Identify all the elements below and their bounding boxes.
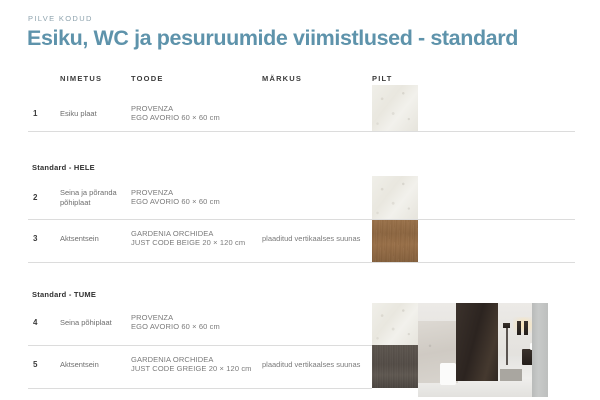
row-name: Esiku plaat [60, 109, 130, 119]
row-note: plaaditud vertikaalses suunas [262, 234, 377, 244]
row-note: plaaditud vertikaalses suunas [262, 360, 377, 370]
table-row: 5 Aktsentsein GARDENIA ORCHIDEA JUST COD… [0, 352, 600, 378]
page-title: Esiku, WC ja pesuruumide viimistlused - … [27, 26, 518, 51]
row-name: Seina põhiplaat [60, 318, 130, 328]
column-header-toode: TOODE [131, 74, 164, 83]
swatch-cream-stone-tile [372, 85, 418, 131]
column-header-markus: MÄRKUS [262, 74, 302, 83]
table-row: 3 Aktsentsein GARDENIA ORCHIDEA JUST COD… [0, 226, 600, 252]
row-name: Aktsentsein [60, 234, 130, 244]
column-header-nimetus: NIMETUS [60, 74, 102, 83]
row-name: Seina ja põranda põhiplaat [60, 188, 130, 208]
group-label-hele: Standard - HELE [32, 163, 95, 172]
row-product-spec: JUST CODE BEIGE 20 × 120 cm [131, 238, 261, 248]
row-divider [28, 131, 575, 132]
table-row: 2 Seina ja põranda põhiplaat PROVENZA EG… [0, 185, 600, 211]
row-product-spec: EGO AVORIO 60 × 60 cm [131, 197, 261, 207]
row-number: 5 [33, 360, 37, 369]
column-header-pilt: PILT [372, 74, 393, 83]
table-header-row: NIMETUS TOODE MÄRKUS PILT [0, 74, 600, 88]
row-divider [28, 345, 372, 346]
swatch-dark-greige-tile [372, 345, 418, 388]
document-page: PILVE KODUD Esiku, WC ja pesuruumide vii… [0, 0, 600, 400]
swatch-warm-wood-tile [372, 220, 418, 262]
row-number: 4 [33, 318, 37, 327]
row-product-spec: EGO AVORIO 60 × 60 cm [131, 113, 261, 123]
row-divider [28, 219, 575, 220]
row-product-spec: EGO AVORIO 60 × 60 cm [131, 322, 261, 332]
group-label-tume: Standard - TUME [32, 290, 96, 299]
swatch-cream-stone-tile [372, 303, 418, 345]
row-name: Aktsentsein [60, 360, 130, 370]
table-row: 4 Seina põhiplaat PROVENZA EGO AVORIO 60… [0, 310, 600, 336]
row-number: 3 [33, 234, 37, 243]
table-row: 1 Esiku plaat PROVENZA EGO AVORIO 60 × 6… [0, 103, 600, 125]
row-product-spec: JUST CODE GREIGE 20 × 120 cm [131, 364, 261, 374]
row-divider [28, 262, 575, 263]
row-number: 2 [33, 193, 37, 202]
row-number: 1 [33, 109, 37, 118]
brand-eyebrow: PILVE KODUD [28, 14, 93, 23]
row-divider [28, 388, 372, 389]
swatch-cream-stone-tile [372, 176, 418, 220]
